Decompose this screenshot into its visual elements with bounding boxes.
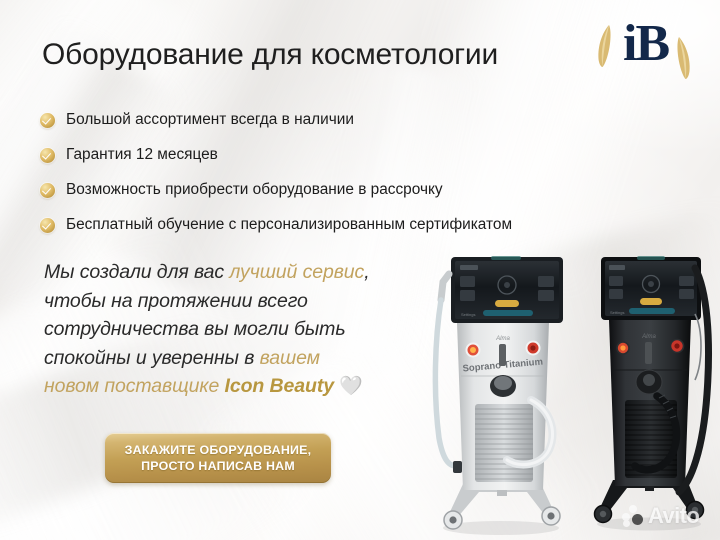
paragraph-highlight-1: лучший сервис [229,261,364,283]
paragraph-highlight-3: новом поставщике [44,375,225,397]
list-item-label: Большой ассортимент всегда в наличии [66,111,354,129]
black-laser-machine: Alma Settings [583,254,715,532]
poster-canvas: Оборудование для косметологии iB Большой… [0,0,720,540]
marketing-paragraph: Мы создали для вас лучший сервис, чтобы … [44,258,424,402]
white-laser-machine: Alma Soprano Titanium Set [423,252,573,535]
check-circle-icon [40,218,55,233]
paragraph-text-3: чтобы на протяжении всего [44,290,308,312]
check-circle-icon [40,113,55,128]
list-item: Бесплатный обучение с персонализированны… [40,215,700,235]
brand-logo: iB [596,14,694,92]
laurel-leaf-right [676,36,692,80]
check-circle-icon [40,183,55,198]
paragraph-highlight-2: вашем [260,347,320,369]
list-item: Большой ассортимент всегда в наличии [40,110,700,130]
paragraph-text-2: , [364,261,369,283]
list-item-label: Бесплатный обучение с персонализированны… [66,216,512,234]
avito-watermark: Avito [622,503,699,529]
order-equipment-button[interactable]: ЗАКАЖИТЕ ОБОРУДОВАНИЕ, ПРОСТО НАПИСАВ НА… [105,433,331,483]
page-title: Оборудование для косметологии [42,38,498,72]
feature-list: Большой ассортимент всегда в наличии Гар… [40,110,700,250]
avito-wordmark: Avito [648,503,699,529]
check-circle-icon [40,148,55,163]
cta-line-2: ПРОСТО НАПИСАВ НАМ [141,458,295,475]
list-item-label: Гарантия 12 месяцев [66,146,218,164]
paragraph-text-1: Мы создали для вас [44,261,229,283]
paragraph-text-4: сотрудничества вы могли быть [44,318,345,340]
svg-text:Alma: Alma [495,336,510,342]
heart-icon: 🤍 [339,376,363,397]
svg-text:Alma: Alma [641,334,656,340]
list-item: Гарантия 12 месяцев [40,145,700,165]
laurel-leaf-left [596,24,612,68]
logo-mark: iB [623,18,668,70]
list-item: Возможность приобрести оборудование в ра… [40,180,700,200]
brand-name: Icon Beauty [225,375,334,397]
product-photo-group: Alma Soprano Titanium Set [405,240,720,540]
cta-line-1: ЗАКАЖИТЕ ОБОРУДОВАНИЕ, [125,442,312,459]
paragraph-text-5: спокойны и уверенны в [44,347,260,369]
list-item-label: Возможность приобрести оборудование в ра… [66,181,443,199]
svg-text:Settings: Settings [461,312,475,317]
svg-text:Settings: Settings [610,310,624,315]
avito-dots-icon [622,505,644,527]
